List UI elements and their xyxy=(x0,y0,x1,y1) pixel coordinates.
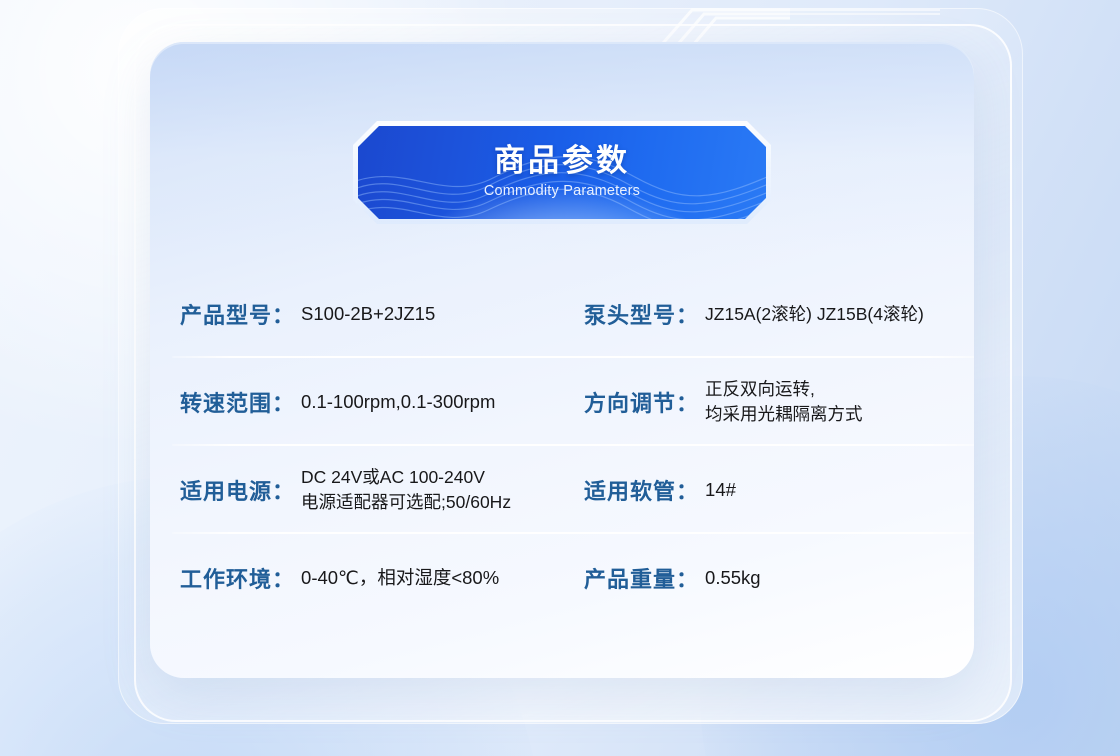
spec-cell-working-environment: 工作环境： 0-40℃，相对湿度<80% xyxy=(170,534,574,622)
specifications-table: 产品型号： S100-2B+2JZ15 泵头型号： JZ15A(2滚轮) JZ1… xyxy=(170,270,974,622)
banner-title-english: Commodity Parameters xyxy=(484,183,640,199)
spec-label: 产品型号： xyxy=(180,298,294,330)
table-row: 工作环境： 0-40℃，相对湿度<80% 产品重量： 0.55kg xyxy=(170,534,974,622)
spec-cell-product-model: 产品型号： S100-2B+2JZ15 xyxy=(170,270,574,358)
section-title-banner: 商品参数 Commodity Parameters xyxy=(353,121,771,224)
spec-label: 泵头型号： xyxy=(584,298,698,330)
banner-body: 商品参数 Commodity Parameters xyxy=(358,126,766,219)
spec-value: S100-2B+2JZ15 xyxy=(301,301,435,327)
spec-label: 工作环境： xyxy=(180,562,294,594)
spec-value: 0.55kg xyxy=(705,565,761,591)
spec-value: JZ15A(2滚轮) JZ15B(4滚轮) xyxy=(705,302,924,327)
spec-cell-speed-range: 转速范围： 0.1-100rpm,0.1-300rpm xyxy=(170,358,574,446)
spec-cell-power-supply: 适用电源： DC 24V或AC 100-240V 电源适配器可选配;50/60H… xyxy=(170,446,574,534)
spec-value: DC 24V或AC 100-240V 电源适配器可选配;50/60Hz xyxy=(301,465,511,515)
banner-title-chinese: 商品参数 xyxy=(494,144,630,178)
spec-label: 产品重量： xyxy=(584,562,698,594)
product-parameters-page: 商品参数 Commodity Parameters 产品型号： S100-2B+… xyxy=(0,0,1120,756)
table-row: 转速范围： 0.1-100rpm,0.1-300rpm 方向调节： 正反双向运转… xyxy=(170,358,974,446)
spec-label: 适用电源： xyxy=(180,474,294,506)
spec-value: 正反双向运转, 均采用光耦隔离方式 xyxy=(705,377,863,427)
spec-cell-direction-control: 方向调节： 正反双向运转, 均采用光耦隔离方式 xyxy=(574,358,974,446)
spec-cell-pump-head-model: 泵头型号： JZ15A(2滚轮) JZ15B(4滚轮) xyxy=(574,270,974,358)
parameters-card: 商品参数 Commodity Parameters 产品型号： S100-2B+… xyxy=(150,42,974,678)
spec-cell-tubing: 适用软管： 14# xyxy=(574,446,974,534)
table-row: 产品型号： S100-2B+2JZ15 泵头型号： JZ15A(2滚轮) JZ1… xyxy=(170,270,974,358)
spec-label: 适用软管： xyxy=(584,474,698,506)
table-row: 适用电源： DC 24V或AC 100-240V 电源适配器可选配;50/60H… xyxy=(170,446,974,534)
spec-value: 0.1-100rpm,0.1-300rpm xyxy=(301,389,495,415)
spec-label: 方向调节： xyxy=(584,386,698,418)
spec-cell-product-weight: 产品重量： 0.55kg xyxy=(574,534,974,622)
spec-label: 转速范围： xyxy=(180,386,294,418)
banner-text-group: 商品参数 Commodity Parameters xyxy=(358,126,766,219)
spec-value: 0-40℃，相对湿度<80% xyxy=(301,565,499,591)
spec-value: 14# xyxy=(705,477,736,503)
